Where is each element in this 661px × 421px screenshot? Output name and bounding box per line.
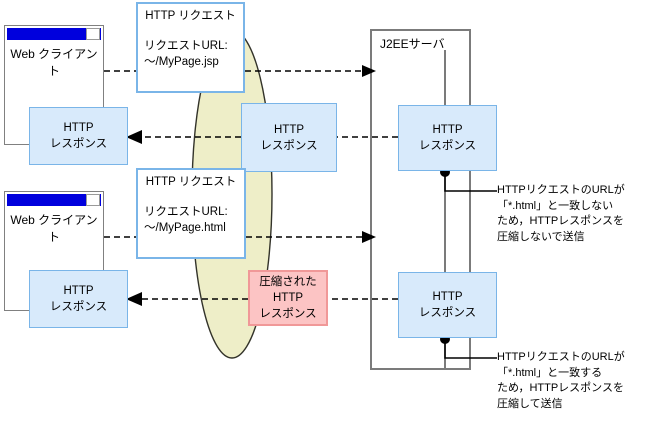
client-response-box-top: HTTP レスポンス — [29, 107, 128, 165]
http-request-box-html: HTTP リクエスト リクエストURL: 〜/MyPage.html — [136, 168, 246, 259]
web-client-label-bottom: Web クライアント — [5, 212, 103, 246]
client-response-box-bottom: HTTP レスポンス — [29, 270, 128, 328]
arrowhead-response-top — [126, 130, 142, 144]
annotation-no-compress: HTTPリクエストのURLが 「*.html」と一致しない ため，HTTPレスポ… — [497, 183, 661, 245]
http-request-url-value-jsp: 〜/MyPage.jsp — [138, 54, 243, 70]
mid-response-box-uncompressed: HTTP レスポンス — [241, 103, 337, 172]
http-request-box-jsp: HTTP リクエスト リクエストURL: 〜/MyPage.jsp — [136, 2, 245, 93]
arrowhead-response-bottom — [126, 292, 142, 306]
web-client-label-top: Web クライアント — [5, 46, 103, 80]
server-response-box-top: HTTP レスポンス — [398, 105, 497, 171]
http-request-url-html: リクエストURL: — [138, 204, 244, 220]
http-request-title-jsp: HTTP リクエスト — [138, 8, 243, 24]
window-button-icon[interactable] — [86, 194, 100, 206]
window-titlebar-bottom — [7, 194, 101, 206]
http-request-title-html: HTTP リクエスト — [138, 174, 244, 190]
window-titlebar-top — [7, 28, 101, 40]
http-request-url-value-html: 〜/MyPage.html — [138, 220, 244, 236]
j2ee-server-label: J2EEサーバ — [380, 35, 445, 52]
annotation-compress: HTTPリクエストのURLが 「*.html」と一致する ため，HTTPレスポン… — [497, 350, 661, 412]
mid-response-box-compressed: 圧縮された HTTP レスポンス — [248, 270, 328, 326]
http-request-url-jsp: リクエストURL: — [138, 38, 243, 54]
window-button-icon[interactable] — [86, 28, 100, 40]
diagram-canvas: J2EEサーバ Web クライアント — [0, 0, 661, 421]
server-response-box-bottom: HTTP レスポンス — [398, 272, 497, 338]
